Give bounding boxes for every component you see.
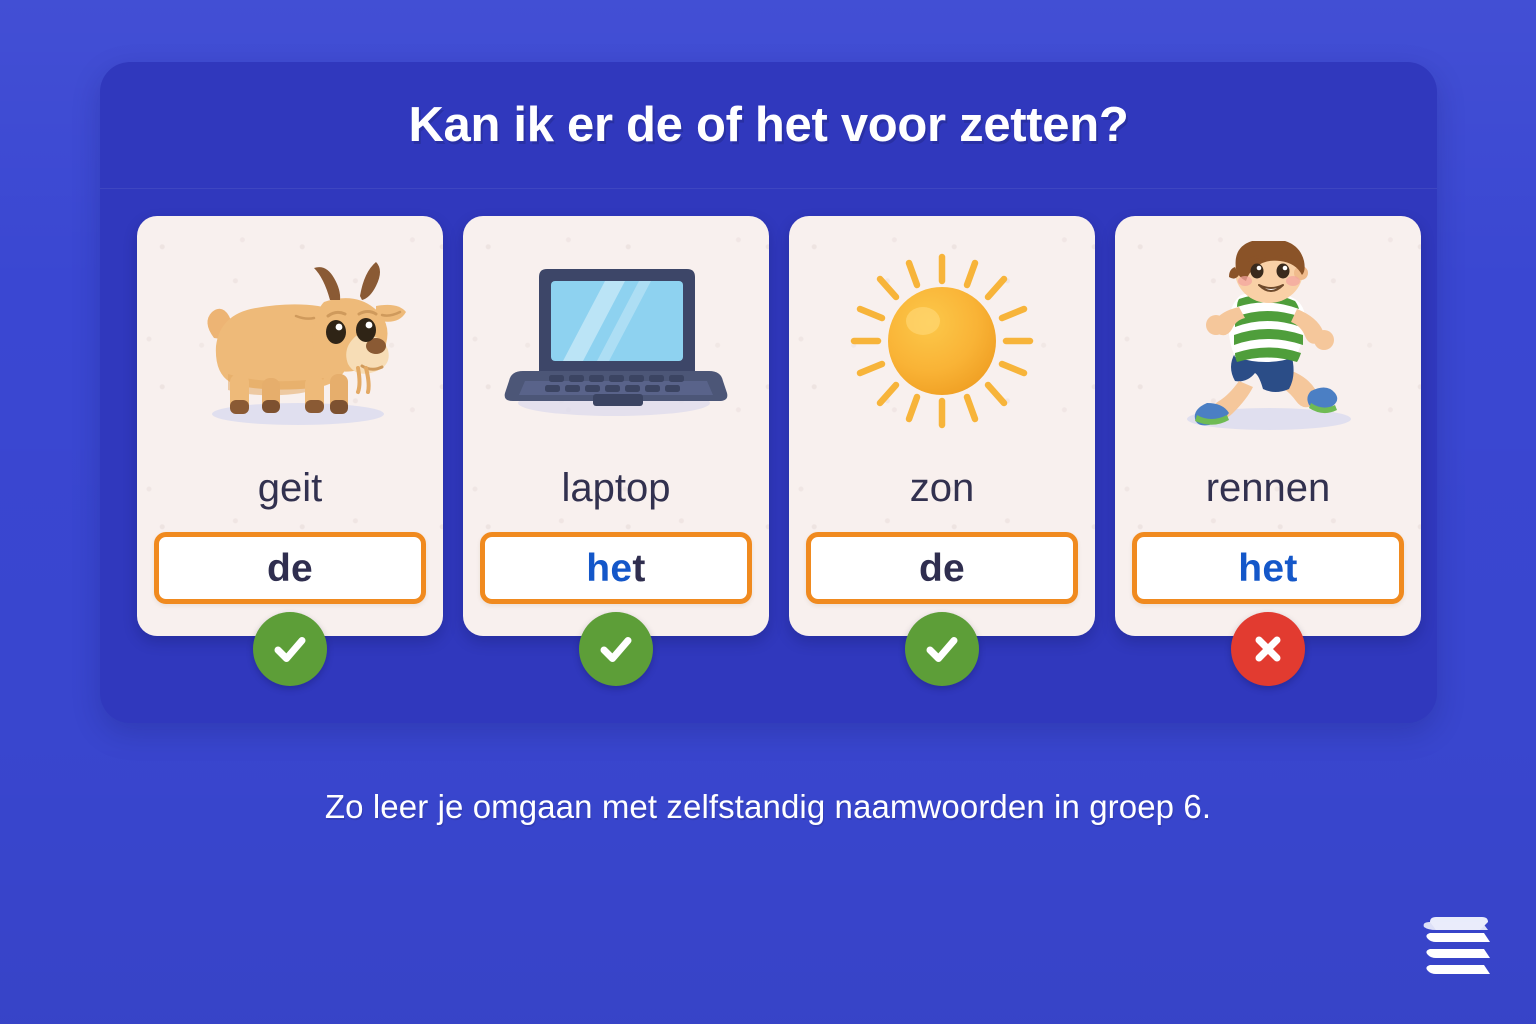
goat-illustration [137,216,443,466]
check-icon [594,627,638,671]
status-badge [253,612,327,686]
card-slot: geit de [137,216,443,636]
word-card[interactable]: zon de [789,216,1095,636]
title-strong: Kan ik er de of het [408,98,827,152]
answer-prefix: het [1238,547,1297,590]
answer-text: de [919,549,965,588]
check-icon [920,627,964,671]
answer-box[interactable]: het [480,532,752,604]
card-slot: zon de [789,216,1095,636]
word-label: geit [258,468,323,508]
lesson-panel: Kan ik er de of het voor zetten? [100,62,1437,723]
answer-box[interactable]: de [806,532,1078,604]
cross-icon [1246,627,1290,671]
answer-suffix: t [632,547,645,590]
page-title: Kan ik er de of het voor zetten? [408,97,1128,153]
word-card-row: geit de [137,216,1400,636]
answer-text: het [586,549,645,588]
answer-suffix: de [919,547,965,590]
answer-suffix: de [267,547,313,590]
answer-text: het [1238,549,1297,588]
answer-text: de [267,549,313,588]
answer-box[interactable]: de [154,532,426,604]
word-card[interactable]: laptop het [463,216,769,636]
running-boy-illustration [1115,216,1421,466]
word-card[interactable]: geit de [137,216,443,636]
word-label: rennen [1206,468,1331,508]
word-label: laptop [562,468,671,508]
answer-box[interactable]: het [1132,532,1404,604]
word-label: zon [910,468,975,508]
check-icon [268,627,312,671]
footer-caption: Zo leer je omgaan met zelfstandig naamwo… [0,788,1536,826]
status-badge [905,612,979,686]
answer-prefix: he [586,547,632,590]
laptop-illustration [463,216,769,466]
status-badge [579,612,653,686]
word-card[interactable]: rennen het [1115,216,1421,636]
card-slot: laptop het [463,216,769,636]
stacked-books-logo [1420,910,1498,982]
card-slot: rennen het [1115,216,1421,636]
sun-illustration [789,216,1095,466]
panel-header: Kan ik er de of het voor zetten? [100,62,1437,189]
status-badge [1231,612,1305,686]
title-light: voor zetten? [828,98,1129,152]
